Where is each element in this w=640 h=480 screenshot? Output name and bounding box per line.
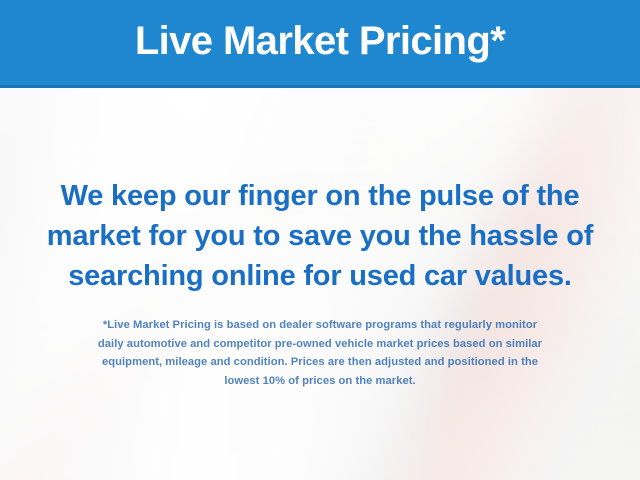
headline-line-1: We keep our finger on the pulse of the: [22, 176, 618, 216]
banner-title: Live Market Pricing*: [135, 21, 505, 65]
content-area: We keep our finger on the pulse of the m…: [0, 88, 640, 480]
header-banner: Live Market Pricing*: [0, 0, 640, 88]
fineprint-line-1: *Live Market Pricing is based on dealer …: [28, 316, 612, 335]
headline: We keep our finger on the pulse of the m…: [22, 176, 618, 296]
headline-line-2: market for you to save you the hassle of: [22, 216, 618, 256]
headline-line-3: searching online for used car values.: [22, 256, 618, 296]
fineprint-line-2: daily automotive and competitor pre-owne…: [28, 335, 612, 354]
fineprint-line-4: lowest 10% of prices on the market.: [28, 372, 612, 391]
fineprint-line-3: equipment, mileage and condition. Prices…: [28, 353, 612, 372]
fineprint-disclaimer: *Live Market Pricing is based on dealer …: [28, 316, 612, 390]
live-market-pricing-banner: Live Market Pricing* We keep our finger …: [0, 0, 640, 480]
